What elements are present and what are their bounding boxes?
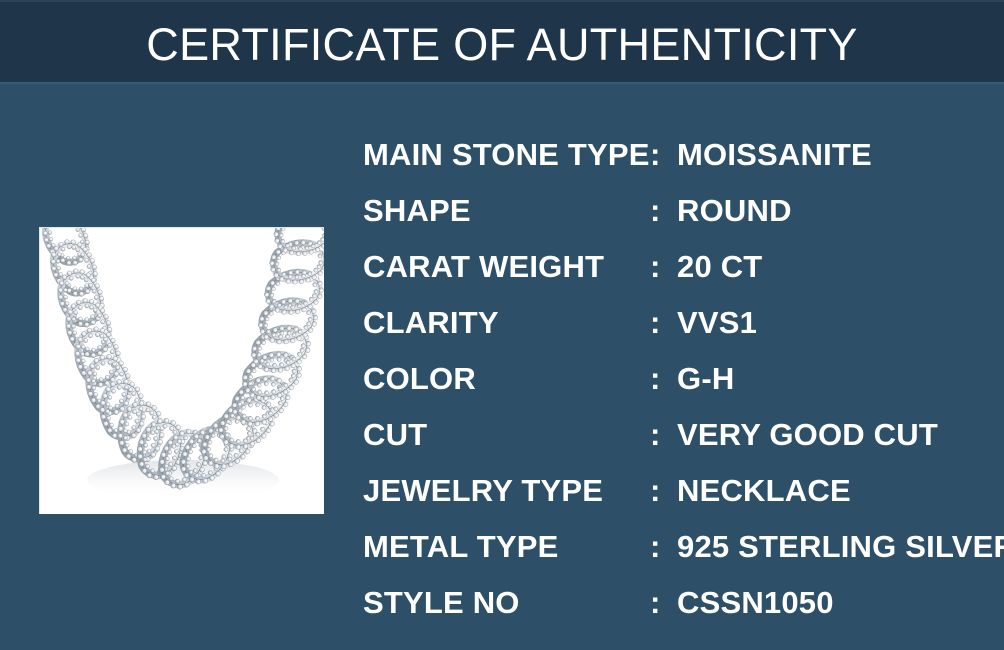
spec-value: NECKLACE <box>677 463 851 519</box>
spec-value: 20 CT <box>677 239 762 295</box>
spec-label: METAL TYPE <box>363 519 558 575</box>
spec-label: STYLE NO <box>363 575 520 631</box>
table-row: JEWELRY TYPE : NECKLACE <box>363 463 983 519</box>
spec-label: COLOR <box>363 351 476 407</box>
spec-value: VERY GOOD CUT <box>677 407 938 463</box>
spec-separator: : <box>650 239 660 295</box>
spec-value: CSSN1050 <box>677 575 834 631</box>
spec-label: CUT <box>363 407 427 463</box>
spec-separator: : <box>650 575 660 631</box>
spec-value: MOISSANITE <box>677 127 872 183</box>
spec-label: MAIN STONE TYPE <box>363 127 650 183</box>
spec-value: ROUND <box>677 183 792 239</box>
spec-separator: : <box>650 519 660 575</box>
spec-label: SHAPE <box>363 183 471 239</box>
page-title: CERTIFICATE OF AUTHENTICITY <box>0 16 1004 74</box>
spec-separator: : <box>650 183 660 239</box>
spec-value: G-H <box>677 351 734 407</box>
table-row: STYLE NO : CSSN1050 <box>363 575 983 631</box>
spec-value: VVS1 <box>677 295 757 351</box>
table-row: CUT : VERY GOOD CUT <box>363 407 983 463</box>
spec-separator: : <box>650 295 660 351</box>
certificate-of-authenticity: CERTIFICATE OF AUTHENTICITY <box>0 0 1004 650</box>
spec-label: CLARITY <box>363 295 499 351</box>
spec-label: CARAT WEIGHT <box>363 239 604 295</box>
spec-separator: : <box>650 463 660 519</box>
table-row: COLOR : G-H <box>363 351 983 407</box>
table-row: SHAPE : ROUND <box>363 183 983 239</box>
spec-separator: : <box>650 127 660 183</box>
product-photo <box>39 227 324 514</box>
spec-value: 925 STERLING SILVER <box>677 519 1004 575</box>
spec-separator: : <box>650 351 660 407</box>
header-divider <box>0 82 1004 85</box>
certificate-header: CERTIFICATE OF AUTHENTICITY <box>0 0 1004 82</box>
table-row: CLARITY : VVS1 <box>363 295 983 351</box>
table-row: METAL TYPE : 925 STERLING SILVER <box>363 519 983 575</box>
table-row: MAIN STONE TYPE : MOISSANITE <box>363 127 983 183</box>
specification-table: MAIN STONE TYPE : MOISSANITE SHAPE : ROU… <box>363 127 983 631</box>
spec-label: JEWELRY TYPE <box>363 463 603 519</box>
table-row: CARAT WEIGHT : 20 CT <box>363 239 983 295</box>
spec-separator: : <box>650 407 660 463</box>
